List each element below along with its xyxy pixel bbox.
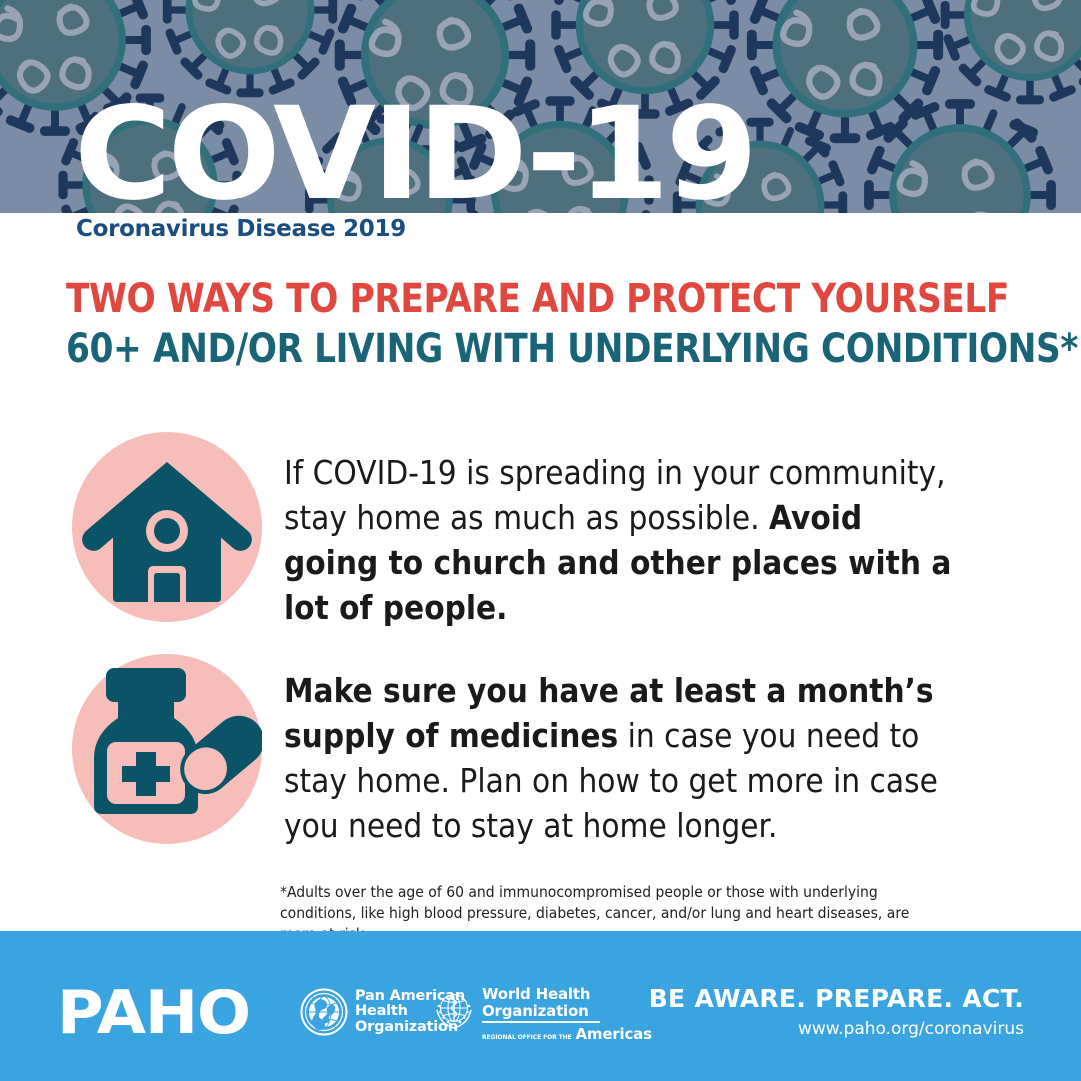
who-line-1: World Health xyxy=(482,986,652,1003)
headline-block: TWO WAYS TO PREPARE AND PROTECT YOURSELF… xyxy=(66,276,1026,373)
who-region-row: REGIONAL OFFICE FOR THE Americas xyxy=(482,1025,652,1043)
footer-url[interactable]: www.paho.org/coronavirus xyxy=(798,1019,1024,1039)
headline-secondary: 60+ AND/OR LIVING WITH UNDERLYING CONDIT… xyxy=(66,326,892,373)
who-region-name: Americas xyxy=(576,1025,652,1043)
message-text-stay-home: If COVID-19 is spreading in your communi… xyxy=(284,432,957,630)
page-title: COVID-19 xyxy=(74,96,754,213)
message-text-medicine-supply: Make sure you have at least a month’s su… xyxy=(284,654,957,848)
footer-tagline: BE AWARE. PREPARE. ACT. xyxy=(649,984,1024,1013)
who-lockup-text: World Health Organization REGIONAL OFFIC… xyxy=(482,986,652,1043)
house-icon-badge xyxy=(72,432,262,622)
who-emblem-icon xyxy=(432,988,476,1032)
house-icon xyxy=(72,432,262,622)
headline-primary: TWO WAYS TO PREPARE AND PROTECT YOURSELF xyxy=(66,276,892,323)
who-logo-lockup: World Health Organization REGIONAL OFFIC… xyxy=(432,986,652,1043)
medicine-bottle-icon xyxy=(72,654,262,844)
page-subtitle: Coronavirus Disease 2019 xyxy=(76,216,406,242)
medicine-icon-badge xyxy=(72,654,262,844)
header-band: COVID-19 xyxy=(0,0,1081,213)
paho-wordmark: PAHO xyxy=(57,983,250,1043)
who-divider-rule xyxy=(482,1021,600,1023)
covid19-infographic-poster: COVID-19 Coronavirus Disease 2019 TWO WA… xyxy=(0,0,1081,1081)
message-row-medicine-supply: Make sure you have at least a month’s su… xyxy=(72,654,1032,848)
message-row-stay-home: If COVID-19 is spreading in your communi… xyxy=(72,432,1032,630)
who-region-prefix: REGIONAL OFFICE FOR THE xyxy=(482,1034,572,1041)
who-line-2: Organization xyxy=(482,1003,652,1020)
paho-globe-emblem-icon xyxy=(300,988,348,1036)
